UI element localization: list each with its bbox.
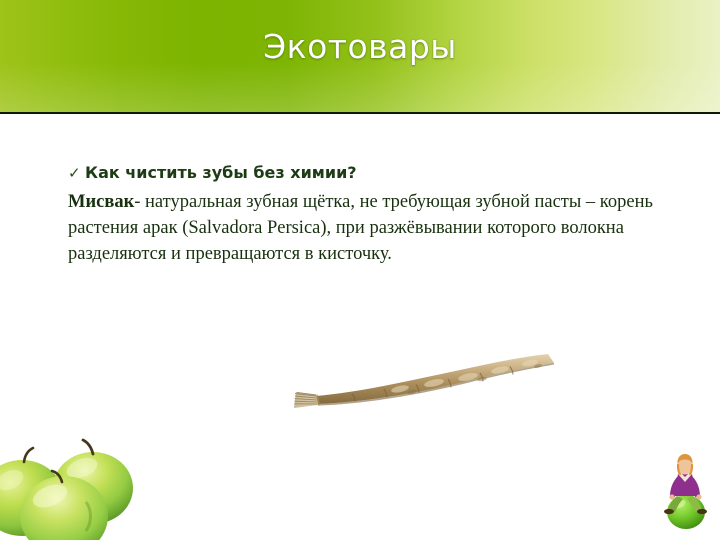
miswak-shaft bbox=[316, 354, 554, 404]
left-shoe bbox=[664, 509, 674, 514]
lead-term: Мисвак bbox=[68, 192, 134, 212]
right-hand bbox=[696, 494, 701, 499]
page-title: Экотовары bbox=[0, 27, 720, 66]
body-paragraph: Мисвак- натуральная зубная щётка, не тре… bbox=[68, 189, 694, 267]
green-apples-photo bbox=[0, 432, 140, 540]
check-icon: ✓ bbox=[68, 160, 85, 186]
right-shoe bbox=[697, 509, 707, 514]
content-block: ✓ Как чистить зубы без химии? Мисвак- на… bbox=[68, 160, 694, 267]
person-on-ball-mascot bbox=[659, 452, 713, 530]
miswak-bristles bbox=[294, 392, 320, 408]
person-on-ball-icon bbox=[659, 452, 713, 530]
miswak-stick-photo bbox=[292, 352, 562, 410]
question-line: ✓ Как чистить зубы без химии? bbox=[68, 160, 694, 186]
paragraph-rest: - натуральная зубная щётка, не требующая… bbox=[68, 192, 653, 264]
green-apples-icon bbox=[0, 432, 140, 540]
left-hand bbox=[669, 494, 674, 499]
slide: Экотовары ✓ Как чистить зубы без химии? … bbox=[0, 0, 720, 540]
question-heading: Как чистить зубы без химии? bbox=[85, 160, 357, 186]
header-divider-rule bbox=[0, 112, 720, 114]
miswak-stick-icon bbox=[292, 352, 562, 410]
